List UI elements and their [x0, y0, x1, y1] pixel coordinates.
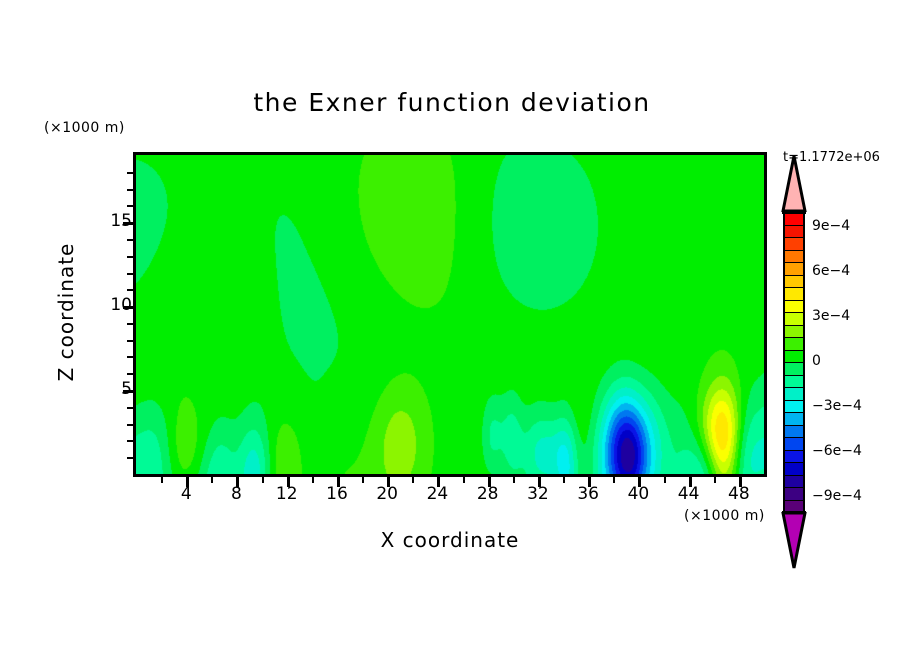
- colorbar-segment: [783, 287, 805, 300]
- y-axis-tick: [127, 440, 136, 442]
- contour-plot-area: [136, 155, 764, 474]
- figure-canvas: the Exner function deviation (×1000 m) t…: [0, 0, 904, 654]
- x-axis-unit-label: (×1000 m): [684, 508, 765, 524]
- y-axis-tick-label: 10: [92, 295, 132, 315]
- colorbar-segment: [783, 237, 805, 250]
- y-axis-tick: [127, 424, 136, 426]
- x-axis-tick: [211, 474, 213, 483]
- colorbar-cap: [782, 511, 806, 514]
- colorbar-tick-label: 9e−4: [812, 218, 850, 234]
- y-axis-title: Z coordinate: [54, 222, 78, 402]
- x-axis-tick: [412, 474, 414, 483]
- colorbar-under-arrow: [781, 512, 807, 570]
- colorbar-cap: [782, 211, 806, 214]
- colorbar-segment: [783, 250, 805, 263]
- x-axis-tick: [513, 474, 515, 483]
- colorbar-segment: [783, 337, 805, 350]
- x-axis-tick: [613, 474, 615, 483]
- y-axis-tick: [127, 323, 136, 325]
- y-axis-tick-label: 15: [92, 211, 132, 231]
- y-axis-tick: [127, 407, 136, 409]
- y-axis-tick: [127, 373, 136, 375]
- colorbar-segment: [783, 387, 805, 400]
- y-axis-tick: [127, 340, 136, 342]
- y-axis-unit-label: (×1000 m): [44, 120, 125, 136]
- colorbar-over-arrow: [781, 154, 807, 212]
- chart-title: the Exner function deviation: [0, 88, 904, 117]
- colorbar-segment: [783, 400, 805, 413]
- x-axis-tick: [563, 474, 565, 483]
- x-axis-tick: [714, 474, 716, 483]
- colorbar-tick-label: 0: [812, 353, 821, 369]
- colorbar-segment: [783, 262, 805, 275]
- colorbar[interactable]: 9e−46e−43e−40−3e−4−6e−4−9e−4: [783, 212, 805, 512]
- colorbar-segment: [783, 437, 805, 450]
- colorbar-segment: [783, 312, 805, 325]
- y-axis-tick-label: 5: [92, 379, 132, 399]
- x-axis-tick: [362, 474, 364, 483]
- colorbar-tick-label: 3e−4: [812, 308, 850, 324]
- x-axis-tick: [161, 474, 163, 483]
- x-axis-tick: [463, 474, 465, 483]
- x-axis-tick: [312, 474, 314, 483]
- colorbar-segment: [783, 350, 805, 363]
- colorbar-tick-label: 6e−4: [812, 263, 850, 279]
- colorbar-segment: [783, 475, 805, 488]
- colorbar-segment: [783, 325, 805, 338]
- colorbar-segment: [783, 412, 805, 425]
- y-axis-tick: [127, 356, 136, 358]
- y-axis-tick: [127, 239, 136, 241]
- contour-field: [136, 155, 764, 474]
- colorbar-segment: [783, 425, 805, 438]
- colorbar-segment: [783, 375, 805, 388]
- colorbar-segment: [783, 450, 805, 463]
- x-axis-tick: [262, 474, 264, 483]
- colorbar-tick-label: −6e−4: [812, 443, 862, 459]
- y-axis-tick: [127, 457, 136, 459]
- y-axis-tick: [127, 289, 136, 291]
- y-axis-tick: [127, 256, 136, 258]
- y-axis-tick: [127, 172, 136, 174]
- colorbar-segment: [783, 300, 805, 313]
- colorbar-tick-label: −9e−4: [812, 488, 862, 504]
- colorbar-segment: [783, 487, 805, 500]
- x-axis-tick-label: 48: [709, 484, 769, 504]
- x-axis-tick: [664, 474, 666, 483]
- colorbar-segment: [783, 275, 805, 288]
- colorbar-segment: [783, 462, 805, 475]
- y-axis-tick: [127, 205, 136, 207]
- y-axis-tick: [127, 189, 136, 191]
- x-axis-title: X coordinate: [136, 528, 764, 552]
- y-axis-tick: [127, 273, 136, 275]
- colorbar-segment: [783, 225, 805, 238]
- colorbar-segment: [783, 362, 805, 375]
- colorbar-tick-label: −3e−4: [812, 398, 862, 414]
